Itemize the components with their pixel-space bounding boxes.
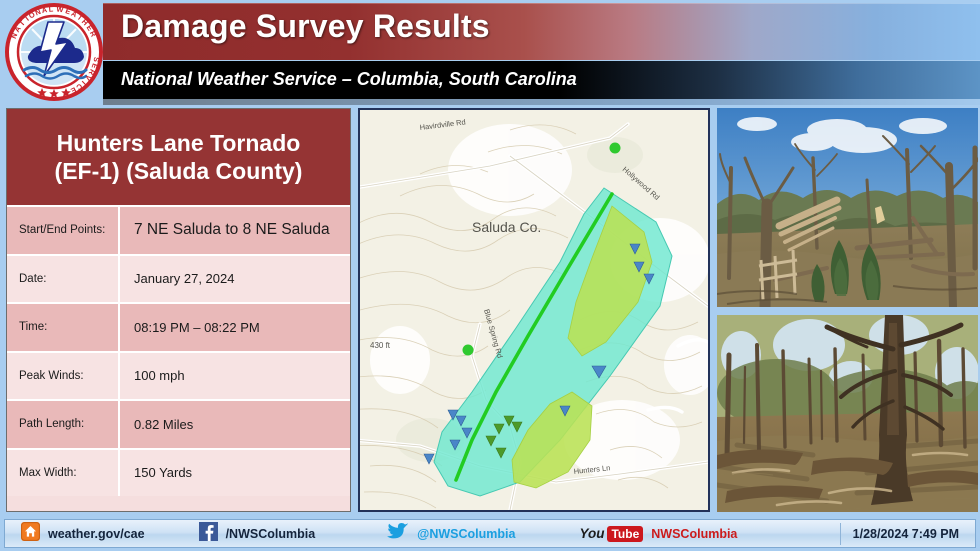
row-label: Time: [7, 304, 120, 351]
website-label: weather.gov/cae [48, 527, 145, 541]
social-footer: weather.gov/cae /NWSColumbia @NWSColumbi… [4, 519, 976, 548]
facebook-icon [199, 522, 218, 546]
page-subtitle: National Weather Service – Columbia, Sou… [121, 69, 577, 90]
row-value: 0.82 Miles [120, 401, 350, 448]
table-row: Date: January 27, 2024 [7, 256, 350, 305]
row-label: Peak Winds: [7, 353, 120, 400]
tornado-info-panel: Hunters Lane Tornado (EF-1) (Saluda Coun… [6, 108, 351, 512]
subtitle-banner: National Weather Service – Columbia, Sou… [103, 61, 980, 99]
start-point-marker [610, 143, 621, 154]
tornado-title-box: Hunters Lane Tornado (EF-1) (Saluda Coun… [7, 109, 350, 207]
youtube-you-text: You [579, 526, 604, 541]
nws-logo: N A T I O N A L W E A T H E R S E [4, 2, 104, 102]
tornado-detail-table: Start/End Points: 7 NE Saluda to 8 NE Sa… [7, 207, 350, 496]
row-label: Date: [7, 256, 120, 303]
row-label: Path Length: [7, 401, 120, 448]
twitter-bird-icon [385, 521, 409, 546]
row-value: 7 NE Saluda to 8 NE Saluda [120, 207, 350, 254]
website-link[interactable]: weather.gov/cae [21, 520, 145, 547]
row-label: Max Width: [7, 450, 120, 497]
page-title: Damage Survey Results [121, 8, 490, 45]
table-row: Peak Winds: 100 mph [7, 353, 350, 402]
timestamp: 1/28/2024 7:49 PM [840, 523, 971, 545]
slide-header: N A T I O N A L W E A T H E R S E [0, 0, 980, 104]
row-label: Start/End Points: [7, 207, 120, 254]
facebook-link[interactable]: /NWSColumbia [199, 520, 316, 547]
row-value: January 27, 2024 [120, 256, 350, 303]
twitter-label: @NWSColumbia [417, 527, 515, 541]
map-elevation-label: 430 ft [370, 341, 391, 350]
map-county-label: Saluda Co. [472, 219, 541, 235]
youtube-link[interactable]: You Tube NWSColumbia [579, 520, 737, 547]
youtube-icon: You Tube [579, 526, 643, 542]
tornado-title-line2: (EF-1) (Saluda County) [55, 157, 303, 185]
youtube-label: NWSColumbia [651, 527, 737, 541]
svg-text:W: W [56, 4, 64, 14]
twitter-link[interactable]: @NWSColumbia [385, 520, 515, 547]
table-row: Max Width: 150 Yards [7, 450, 350, 497]
title-banner: Damage Survey Results [103, 3, 980, 60]
row-value: 150 Yards [120, 450, 350, 497]
slide-root: N A T I O N A L W E A T H E R S E [0, 0, 980, 551]
tornado-title-line1: Hunters Lane Tornado [57, 129, 301, 157]
row-value: 100 mph [120, 353, 350, 400]
damage-photo-bottom [717, 315, 978, 512]
row-value: 08:19 PM – 08:22 PM [120, 304, 350, 351]
table-row: Time: 08:19 PM – 08:22 PM [7, 304, 350, 353]
header-divider [103, 99, 980, 105]
facebook-label: /NWSColumbia [226, 527, 316, 541]
damage-path-map[interactable]: Saluda Co. 430 ft Havirdville Rd Hollywo… [358, 108, 710, 512]
damage-photo-top [717, 108, 978, 307]
home-icon [21, 522, 40, 546]
table-row: Path Length: 0.82 Miles [7, 401, 350, 450]
youtube-tube-text: Tube [607, 526, 643, 542]
end-point-marker [463, 345, 474, 356]
table-row: Start/End Points: 7 NE Saluda to 8 NE Sa… [7, 207, 350, 256]
